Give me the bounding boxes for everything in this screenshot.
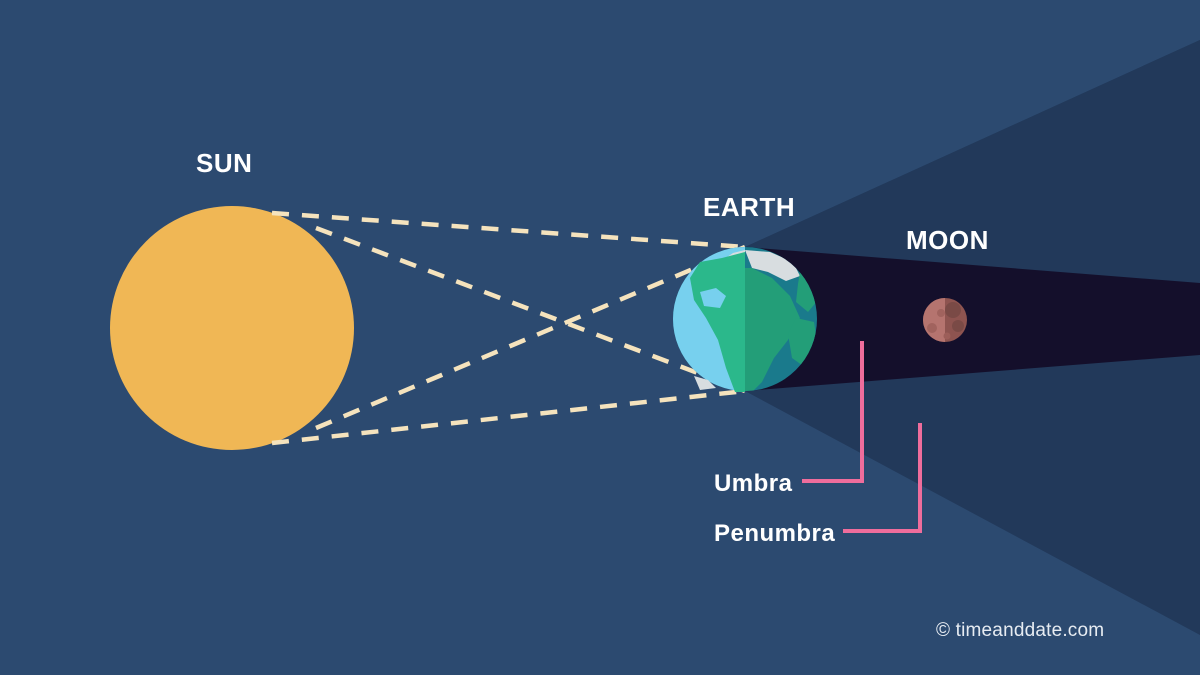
moon-crater-mare-2 [952,320,964,332]
earth-label: EARTH [703,192,795,223]
penumbra-label: Penumbra [714,520,835,548]
moon-crater-5 [944,333,951,340]
umbra-label: Umbra [714,470,792,498]
copyright-credit: © timeanddate.com [936,620,1104,642]
moon-crater-mare-1 [945,302,961,318]
moon-crater-4 [927,323,937,333]
moon-label: MOON [906,225,989,256]
moon-crater-3 [937,309,945,317]
sun-disc [110,206,354,450]
sun-label: SUN [196,148,252,179]
eclipse-diagram: SUN EARTH MOON Umbra Penumbra © timeandd… [0,0,1200,675]
diagram-canvas [0,0,1200,675]
moon-body [923,298,967,342]
